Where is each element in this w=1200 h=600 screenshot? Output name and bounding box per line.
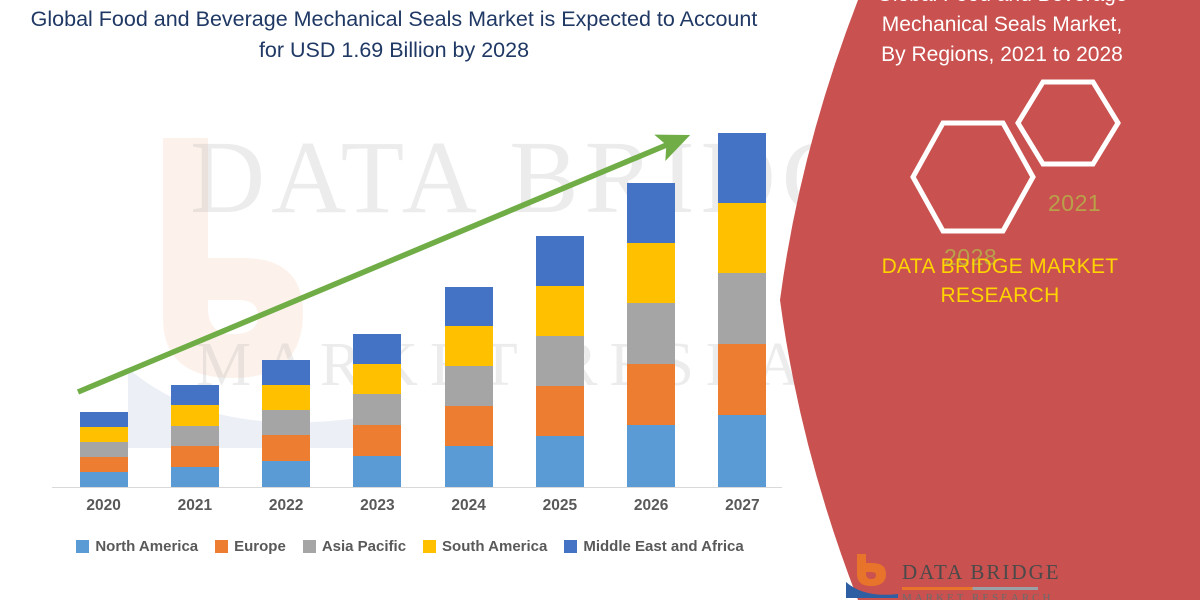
bar-segment-2022-south-america [262, 385, 310, 410]
bar-segment-2021-asia-pacific [171, 426, 219, 446]
bar-segment-2023-north-america [353, 456, 401, 487]
legend-swatch-europe [215, 540, 228, 553]
x-axis-label-2022: 2022 [251, 497, 321, 515]
legend-item-europe[interactable]: Europe [215, 538, 286, 555]
bar-segment-2022-north-america [262, 461, 310, 487]
chart-plot-area: 20202021202220232024202520262027 [0, 0, 800, 600]
brand-name: DATA BRIDGE MARKET RESEARCH [820, 252, 1180, 310]
panel-title: Global Food and Beverage Mechanical Seal… [822, 0, 1182, 70]
page-title: Global Food and Beverage Mechanical Seal… [24, 4, 764, 66]
hexagon-label-2021: 2021 [1048, 190, 1101, 217]
growth-trend-arrow-icon [0, 0, 800, 600]
bar-2022 [262, 360, 310, 487]
bar-segment-2026-asia-pacific [627, 303, 675, 364]
bar-segment-2025-south-america [536, 286, 584, 336]
bar-2021 [171, 385, 219, 487]
bar-2024 [445, 287, 493, 487]
x-axis-label-2021: 2021 [160, 497, 230, 515]
hexagon-badges: 2021 2028 [908, 78, 1138, 243]
x-axis-label-2020: 2020 [69, 497, 139, 515]
bar-segment-2026-europe [627, 364, 675, 425]
x-axis-label-2027: 2027 [707, 497, 777, 515]
bar-segment-2027-europe [718, 344, 766, 415]
bar-segment-2026-middle-east-and-africa [627, 183, 675, 243]
bar-segment-2025-north-america [536, 436, 584, 487]
bar-segment-2027-asia-pacific [718, 273, 766, 344]
watermark-logo-icon [58, 118, 388, 448]
legend-item-asia-pacific[interactable]: Asia Pacific [303, 538, 406, 555]
bar-segment-2020-middle-east-and-africa [80, 412, 128, 427]
x-axis-label-2025: 2025 [525, 497, 595, 515]
bar-2027 [718, 133, 766, 487]
legend-swatch-north-america [76, 540, 89, 553]
hexagon-outlines-icon [908, 78, 1138, 243]
bar-segment-2025-europe [536, 386, 584, 436]
footer-logo-subtitle: MARKET RESEARCH [902, 592, 1053, 600]
legend-swatch-middle-east-and-africa [564, 540, 577, 553]
bar-segment-2024-middle-east-and-africa [445, 287, 493, 326]
bar-segment-2020-north-america [80, 472, 128, 487]
bar-segment-2025-middle-east-and-africa [536, 236, 584, 286]
bar-segment-2027-south-america [718, 203, 766, 273]
bar-segment-2020-south-america [80, 427, 128, 442]
legend-label-north-america: North America [95, 538, 198, 555]
x-axis-label-2023: 2023 [342, 497, 412, 515]
infographic-canvas: DATA BRIDGE MARKET RESEARCH Global Food … [0, 0, 1200, 600]
bar-segment-2020-europe [80, 457, 128, 472]
legend-item-south-america[interactable]: South America [423, 538, 547, 555]
x-axis-tick-labels: 20202021202220232024202520262027 [52, 497, 782, 523]
legend-label-south-america: South America [442, 538, 547, 555]
bar-segment-2023-asia-pacific [353, 394, 401, 425]
panel-title-line-2: Mechanical Seals Market, [882, 13, 1122, 36]
bar-segment-2023-south-america [353, 364, 401, 394]
bar-segment-2022-middle-east-and-africa [262, 360, 310, 385]
bar-segment-2022-europe [262, 435, 310, 461]
x-axis-label-2024: 2024 [434, 497, 504, 515]
bar-segment-2026-north-america [627, 425, 675, 487]
right-panel-content: Global Food and Beverage Mechanical Seal… [800, 0, 1200, 600]
bar-2020 [80, 412, 128, 487]
panel-title-line-3: By Regions, 2021 to 2028 [881, 43, 1123, 66]
legend-label-europe: Europe [234, 538, 286, 555]
chart-legend: North AmericaEuropeAsia PacificSouth Ame… [40, 538, 780, 555]
panel-title-line-cut: Global Food and Beverage [876, 0, 1127, 6]
bar-2023 [353, 334, 401, 487]
bar-segment-2027-north-america [718, 415, 766, 487]
bar-segment-2024-asia-pacific [445, 366, 493, 406]
bar-segment-2021-north-america [171, 467, 219, 487]
legend-label-middle-east-and-africa: Middle East and Africa [583, 538, 743, 555]
footer-logo-name: DATA BRIDGE [902, 560, 1061, 585]
bar-segment-2022-asia-pacific [262, 410, 310, 435]
footer-logo-rule [902, 587, 1038, 590]
bar-segment-2025-asia-pacific [536, 336, 584, 386]
data-bridge-logo-icon [840, 552, 898, 598]
bar-segment-2026-south-america [627, 243, 675, 303]
legend-item-middle-east-and-africa[interactable]: Middle East and Africa [564, 538, 743, 555]
bar-2025 [536, 236, 584, 487]
brand-line-2: RESEARCH [940, 284, 1059, 307]
legend-swatch-south-america [423, 540, 436, 553]
brand-line-1: DATA BRIDGE MARKET [882, 255, 1119, 278]
bar-segment-2024-north-america [445, 446, 493, 487]
bar-segment-2027-middle-east-and-africa [718, 133, 766, 203]
bar-segment-2021-south-america [171, 405, 219, 426]
bar-segment-2024-south-america [445, 326, 493, 366]
legend-swatch-asia-pacific [303, 540, 316, 553]
x-axis-line [52, 487, 782, 488]
legend-item-north-america[interactable]: North America [76, 538, 198, 555]
bar-segment-2023-middle-east-and-africa [353, 334, 401, 364]
bar-segment-2020-asia-pacific [80, 442, 128, 457]
bar-2026 [627, 183, 675, 487]
bar-segment-2024-europe [445, 406, 493, 446]
legend-label-asia-pacific: Asia Pacific [322, 538, 406, 555]
bar-segment-2021-middle-east-and-africa [171, 385, 219, 405]
bar-segment-2021-europe [171, 446, 219, 467]
x-axis-label-2026: 2026 [616, 497, 686, 515]
bar-segment-2023-europe [353, 425, 401, 456]
stacked-bar-series [52, 120, 782, 487]
footer-logo: DATA BRIDGE MARKET RESEARCH [840, 552, 1160, 600]
